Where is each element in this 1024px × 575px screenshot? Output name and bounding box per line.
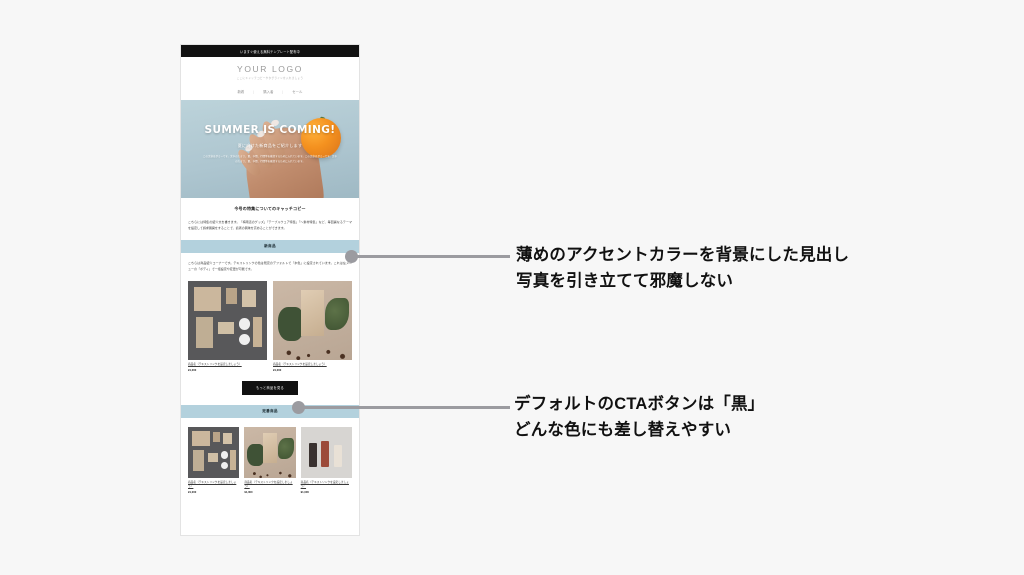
product-card[interactable]: 商品名（テキストリンクを設定しましょう） ¥1,000 <box>244 427 295 495</box>
product-thumbnail <box>244 427 295 478</box>
product-thumbnail <box>188 427 239 478</box>
product-card[interactable]: 商品名（テキストリンクを設定しましょう） ¥1,000 <box>301 427 352 495</box>
footer-spacer <box>181 494 359 508</box>
product-card[interactable]: 商品名（テキストリンクを設定しましょう） ¥1,000 <box>273 281 352 372</box>
announcement-bar[interactable]: いますぐ使える無料テンプレート配布中 <box>181 45 359 57</box>
product-name[interactable]: 商品名（テキストリンクを設定しましょう） <box>188 363 267 367</box>
product-card[interactable]: 商品名（テキストリンクを設定しましょう） ¥1,000 <box>188 427 239 495</box>
hero-body-text: この文章はダミーです。文字の大きさ、量、字間、行間等を確認するために入れています… <box>181 155 359 164</box>
annotation-text-1: 薄めのアクセントカラーを背景にした見出し 写真を引き立てて邪魔しない <box>516 243 849 294</box>
product-name[interactable]: 商品名（テキストリンクを設定しましょう） <box>301 481 352 489</box>
announcement-text: いますぐ使える無料テンプレート配布中 <box>240 49 300 54</box>
email-template-preview: いますぐ使える無料テンプレート配布中 YOUR LOGO ここにキャッチコピーや… <box>181 45 359 535</box>
article-heading: 今号の特集についてのキャッチコピー <box>188 206 352 212</box>
product-thumbnail <box>301 427 352 478</box>
screenshot-stage: いますぐ使える無料テンプレート配布中 YOUR LOGO ここにキャッチコピーや… <box>0 0 1024 575</box>
article-paragraph: こちらには特集の紹介文を書きます。「梅雨活のグッズ」「テーブルウェア特集」「〜素… <box>188 219 352 231</box>
callout-line-2 <box>300 406 510 409</box>
hero-banner: SUMMER IS COMING! 夏に向けた新商品をご紹介します この文章はダ… <box>181 100 359 198</box>
product-grid-standard: 商品名（テキストリンクを設定しましょう） ¥1,000 商品名（テキストリンクを… <box>181 427 359 495</box>
hero-text-block: SUMMER IS COMING! 夏に向けた新商品をご紹介します この文章はダ… <box>181 124 359 164</box>
brand-header: YOUR LOGO ここにキャッチコピーやタグラインを入れましょう <box>181 57 359 84</box>
section-intro-new: こちらは商品紹介コーナーです。テキストリンクの色は既定のデフォルトで「水色」に設… <box>181 253 359 280</box>
product-name[interactable]: 商品名（テキストリンクを設定しましょう） <box>188 481 239 489</box>
hero-subtitle: 夏に向けた新商品をご紹介します <box>181 143 359 149</box>
product-card[interactable]: 商品名（テキストリンクを設定しましょう） ¥1,000 <box>188 281 267 372</box>
primary-nav: 新着 | 購入者 | セール <box>181 84 359 100</box>
product-grid-new: 商品名（テキストリンクを設定しましょう） ¥1,000 商品名（テキストリンクを… <box>181 281 359 372</box>
nav-separator: | <box>253 90 254 94</box>
hero-title: SUMMER IS COMING! <box>181 124 359 136</box>
brand-tagline: ここにキャッチコピーやタグラインを入れましょう <box>181 76 359 80</box>
nav-item-new[interactable]: 新着 <box>238 89 245 94</box>
cta-button[interactable]: もっと商品を見る <box>242 381 298 395</box>
cta-container: もっと商品を見る <box>181 372 359 405</box>
product-name[interactable]: 商品名（テキストリンクを設定しましょう） <box>244 481 295 489</box>
product-thumbnail <box>188 281 267 360</box>
nav-separator: | <box>282 90 283 94</box>
callout-line-1 <box>355 255 510 258</box>
product-name[interactable]: 商品名（テキストリンクを設定しましょう） <box>273 363 352 367</box>
nav-item-sale[interactable]: セール <box>292 89 302 94</box>
logo: YOUR LOGO <box>181 64 359 74</box>
annotation-text-2: デフォルトのCTAボタンは「黒」 どんな色にも差し替えやすい <box>514 392 764 443</box>
nav-item-buyers[interactable]: 購入者 <box>263 89 273 94</box>
spacer <box>181 418 359 427</box>
product-thumbnail <box>273 281 352 360</box>
section-heading-new: 新商品 <box>181 240 359 253</box>
article-block: 今号の特集についてのキャッチコピー こちらには特集の紹介文を書きます。「梅雨活の… <box>181 198 359 240</box>
